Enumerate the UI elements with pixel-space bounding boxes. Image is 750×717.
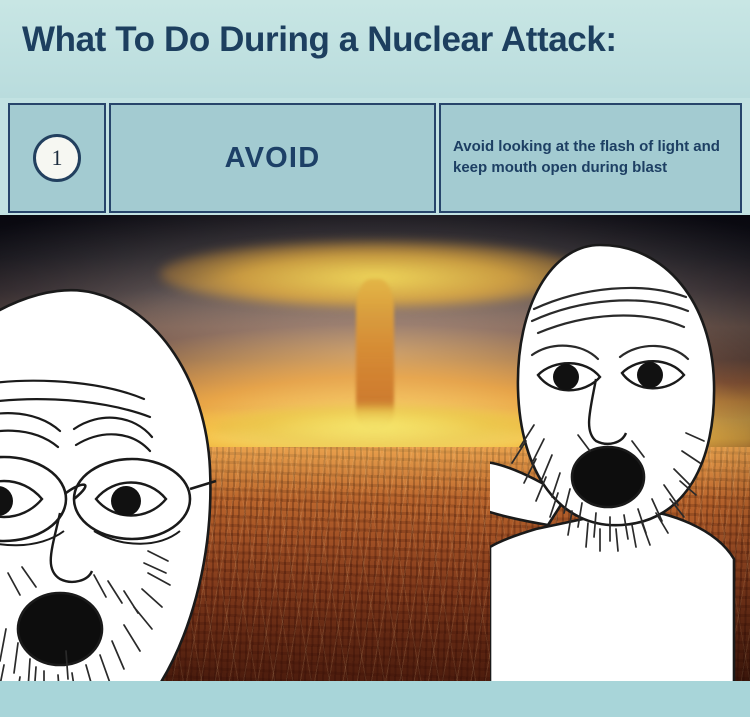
nuclear-explosion-photo	[0, 215, 750, 681]
instruction-table: 1 AVOID Avoid looking at the flash of li…	[8, 103, 742, 213]
table-cell-action: AVOID	[109, 103, 436, 213]
action-label: AVOID	[225, 142, 321, 175]
wojak-right	[490, 229, 750, 681]
meme-image: What To Do During a Nuclear Attack: 1 AV…	[0, 0, 750, 717]
wojak-left	[0, 231, 278, 681]
step-number-badge: 1	[33, 134, 81, 182]
title-bar: What To Do During a Nuclear Attack:	[0, 0, 750, 98]
table-cell-number: 1	[8, 103, 106, 213]
page-title: What To Do During a Nuclear Attack:	[22, 20, 617, 60]
bottom-strip	[0, 681, 750, 717]
table-cell-description: Avoid looking at the flash of light and …	[439, 103, 742, 213]
description-text: Avoid looking at the flash of light and …	[441, 137, 740, 178]
